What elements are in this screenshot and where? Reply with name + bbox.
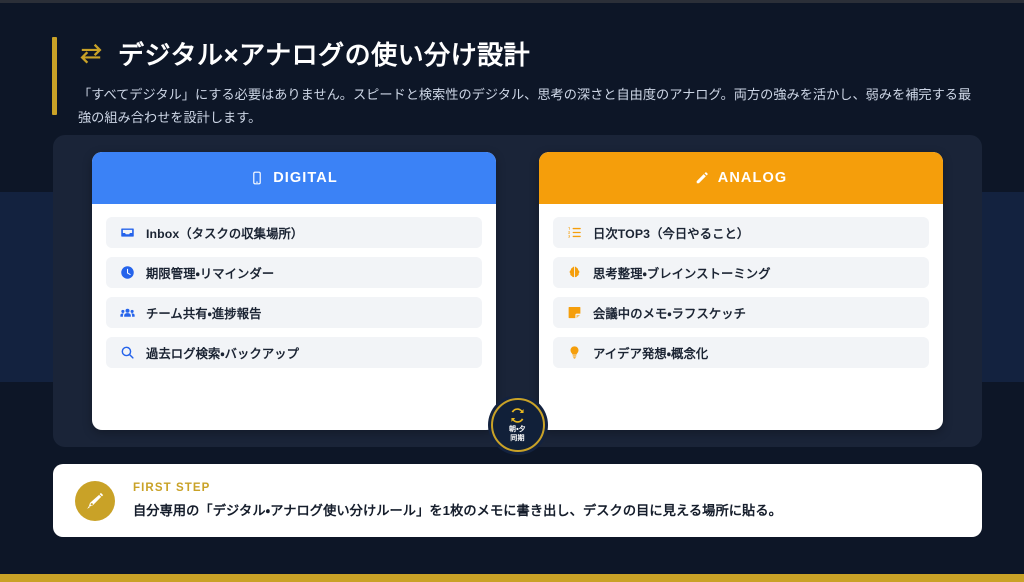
- list-item-label: Inbox（タスクの収集場所）: [146, 224, 303, 242]
- clock-icon: [120, 265, 135, 280]
- slide-top-rule: [0, 0, 1024, 3]
- list-item[interactable]: 思考整理・ブレインストーミング: [553, 257, 929, 288]
- card-analog-body: 日次TOP3（今日やること） 思考整理・ブレインストーミング: [539, 204, 943, 382]
- mobile-phone-icon: [250, 171, 264, 185]
- inbox-icon: [120, 225, 135, 240]
- list-ol-icon: [567, 225, 582, 240]
- sync-refresh-icon: [509, 407, 526, 425]
- lightbulb-icon: [567, 345, 582, 360]
- sticky-note-icon: [567, 305, 582, 320]
- pencil-icon: [695, 171, 709, 185]
- list-item[interactable]: 日次TOP3（今日やること）: [553, 217, 929, 248]
- sync-badge: 朝・夕 同期: [491, 398, 545, 452]
- card-analog-title: ANALOG: [718, 170, 787, 186]
- list-item[interactable]: 会議中のメモ・ラフスケッチ: [553, 297, 929, 328]
- list-item-label: 思考整理・ブレインストーミング: [593, 264, 771, 282]
- sync-badge-line2: 同期: [510, 435, 524, 443]
- comparison-panel: DIGITAL Inbox（タスクの収集場所）: [53, 135, 982, 447]
- first-step-texts: FIRST STEP 自分専用の「デジタル・アナログ使い分けルール」を1枚のメモ…: [133, 482, 782, 519]
- first-step-bar: FIRST STEP 自分専用の「デジタル・アナログ使い分けルール」を1枚のメモ…: [53, 464, 982, 537]
- list-item-label: 過去ログ検索・バックアップ: [146, 344, 299, 362]
- exchange-arrows-icon: [78, 40, 104, 66]
- list-item-label: チーム共有・進捗報告: [146, 304, 261, 322]
- card-analog-header: ANALOG: [539, 152, 943, 204]
- list-item-label: 会議中のメモ・ラフスケッチ: [593, 304, 746, 322]
- page-description: 「すべてデジタル」にする必要はありません。スピードと検索性のデジタル、思考の深さ…: [78, 83, 982, 129]
- title-row: デジタル×アナログの使い分け設計: [78, 34, 982, 72]
- slide-header: デジタル×アナログの使い分け設計 「すべてデジタル」にする必要はありません。スピ…: [52, 34, 982, 129]
- list-item[interactable]: チーム共有・進捗報告: [106, 297, 482, 328]
- list-item-label: 日次TOP3（今日やること）: [593, 224, 749, 242]
- card-digital-title: DIGITAL: [273, 170, 338, 186]
- sync-badge-line1: 朝・夕: [509, 426, 526, 434]
- card-digital-body: Inbox（タスクの収集場所） 期限管理・リマインダー: [92, 204, 496, 382]
- header-accent-bar: [52, 37, 57, 115]
- list-item[interactable]: アイデア発想・概念化: [553, 337, 929, 368]
- list-item-label: アイデア発想・概念化: [593, 344, 708, 362]
- search-icon: [120, 345, 135, 360]
- list-item[interactable]: Inbox（タスクの収集場所）: [106, 217, 482, 248]
- list-item-label: 期限管理・リマインダー: [146, 264, 274, 282]
- card-digital-header: DIGITAL: [92, 152, 496, 204]
- list-item[interactable]: 期限管理・リマインダー: [106, 257, 482, 288]
- card-analog: ANALOG 日次TOP3（今日やること）: [539, 152, 943, 430]
- first-step-text: 自分専用の「デジタル・アナログ使い分けルール」を1枚のメモに書き出し、デスクの目…: [133, 500, 782, 519]
- users-icon: [120, 305, 135, 320]
- card-digital: DIGITAL Inbox（タスクの収集場所）: [92, 152, 496, 430]
- pen-nib-icon: [75, 481, 115, 521]
- page-title: デジタル×アナログの使い分け設計: [118, 35, 530, 72]
- slide-bottom-accent-bar: [0, 574, 1024, 582]
- first-step-label: FIRST STEP: [133, 482, 782, 494]
- brain-icon: [567, 265, 582, 280]
- slide-root: デジタル×アナログの使い分け設計 「すべてデジタル」にする必要はありません。スピ…: [0, 0, 1024, 582]
- list-item[interactable]: 過去ログ検索・バックアップ: [106, 337, 482, 368]
